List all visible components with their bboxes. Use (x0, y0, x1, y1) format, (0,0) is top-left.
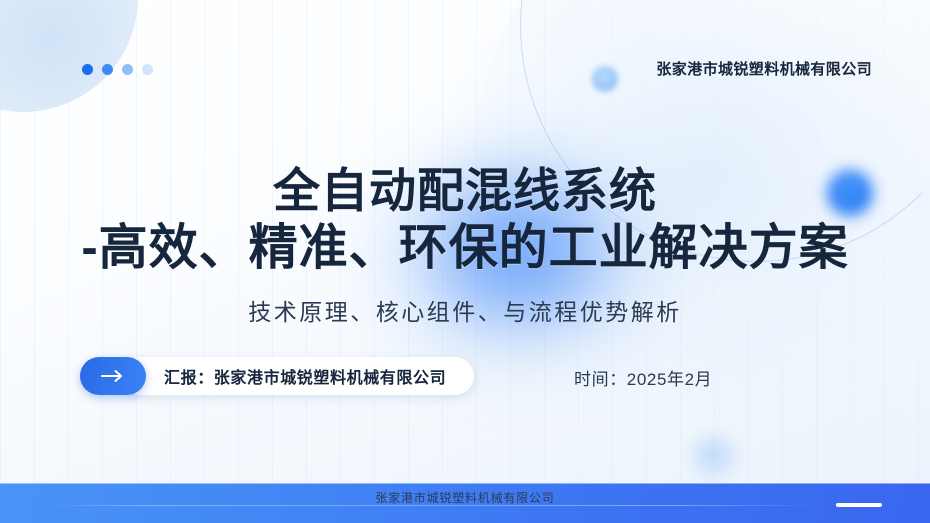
dot-indicator-2 (102, 64, 113, 75)
footer-top-border (0, 483, 930, 484)
dot-indicator-3 (122, 64, 133, 75)
presenter-badge[interactable]: 汇报：张家港市城锐塑料机械有限公司 (80, 357, 474, 395)
corner-circle-decoration (0, 0, 138, 112)
title-block: 全自动配混线系统 -高效、精准、环保的工业解决方案 技术原理、核心组件、与流程优… (0, 162, 930, 327)
presentation-slide: 张家港市城锐塑料机械有限公司 全自动配混线系统 -高效、精准、环保的工业解决方案… (0, 0, 930, 523)
presenter-label: 汇报：张家港市城锐塑料机械有限公司 (164, 364, 446, 388)
footer-company-name: 张家港市城锐塑料机械有限公司 (0, 489, 930, 506)
slide-footer: 张家港市城锐塑料机械有限公司 (0, 483, 930, 523)
slide-title-line-2: -高效、精准、环保的工业解决方案 (0, 219, 930, 279)
footer-divider-line (46, 505, 820, 506)
faint-blue-dot-decoration (688, 432, 740, 484)
dot-indicator-1 (82, 64, 93, 75)
dot-row-decoration (82, 64, 153, 75)
footer-dash-marker (836, 503, 882, 507)
slide-title-line-1: 全自动配混线系统 (0, 162, 930, 219)
dot-indicator-4 (142, 64, 153, 75)
company-name-header: 张家港市城锐塑料机械有限公司 (656, 58, 872, 79)
presenter-pill: 汇报：张家港市城锐塑料机械有限公司 (120, 357, 474, 395)
arrow-right-icon (80, 357, 146, 395)
small-blue-dot-decoration (592, 66, 618, 92)
slide-subtitle: 技术原理、核心组件、与流程优势解析 (0, 293, 930, 327)
date-label: 时间：2025年2月 (574, 365, 712, 390)
